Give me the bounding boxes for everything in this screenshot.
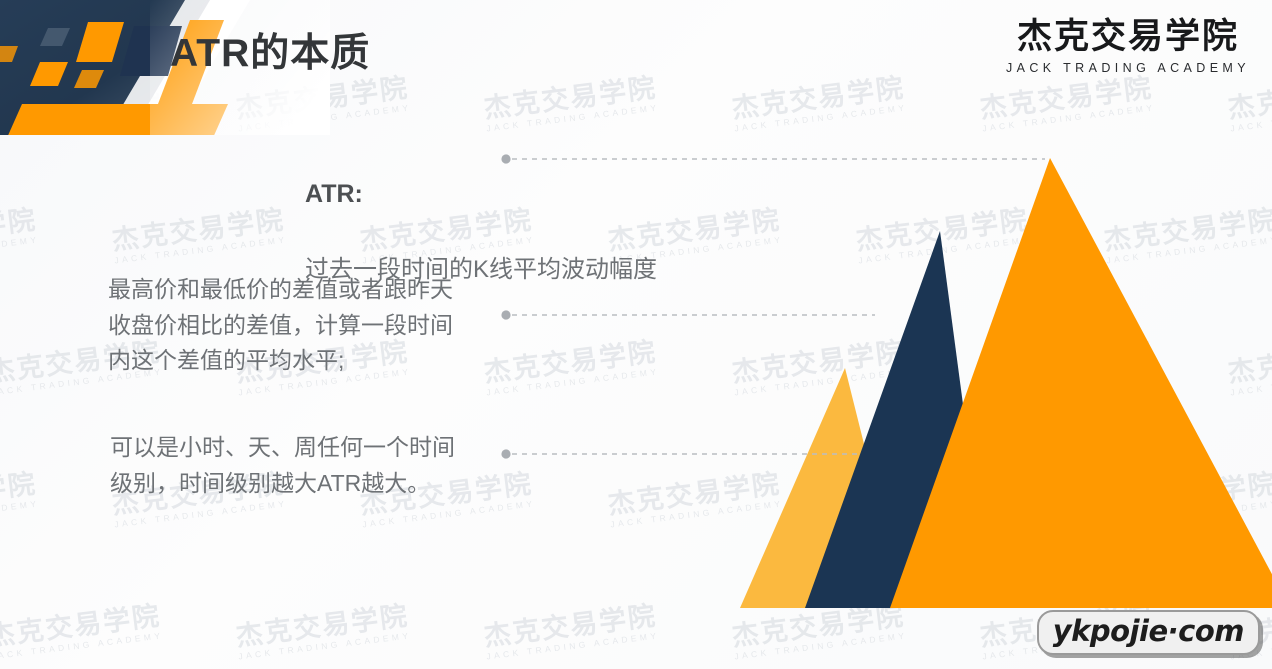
watermark-tile: 杰克交易学院JACK TRADING ACADEMY: [730, 74, 908, 134]
content-block-3: 可以是小时、天、周任何一个时间 级别，时间级别越大ATR越大。: [110, 430, 455, 501]
watermark-tile-en: JACK TRADING ACADEMY: [1106, 0, 1272, 2]
watermark-tile-en: JACK TRADING ACADEMY: [0, 236, 40, 266]
watermark-tile-cn: 杰克交易学院: [234, 602, 410, 651]
watermark-tile: 杰克交易学院JACK TRADING ACADEMY: [854, 0, 1032, 2]
watermark-tile: 杰克交易学院JACK TRADING ACADEMY: [234, 74, 412, 134]
watermark-tile: 杰克交易学院JACK TRADING ACADEMY: [0, 602, 164, 662]
watermark-tile-cn: 杰克交易学院: [110, 206, 286, 255]
watermark-tile-en: JACK TRADING ACADEMY: [362, 0, 536, 2]
watermark-tile-en: JACK TRADING ACADEMY: [238, 104, 412, 134]
watermark-tile: 杰克交易学院JACK TRADING ACADEMY: [110, 0, 288, 2]
watermark-tile-en: JACK TRADING ACADEMY: [0, 0, 40, 2]
brand-logo-cn: 杰克交易学院: [1006, 18, 1250, 57]
watermark-tile: 杰克交易学院JACK TRADING ACADEMY: [482, 602, 660, 662]
watermark-tile-en: JACK TRADING ACADEMY: [362, 500, 536, 530]
page-title: ATR的本质: [170, 22, 370, 78]
watermark-tile-cn: 杰克交易学院: [482, 338, 658, 387]
watermark-tile: 杰克交易学院JACK TRADING ACADEMY: [110, 206, 288, 266]
watermark-tile-cn: 杰克交易学院: [978, 74, 1154, 123]
connector-dot-3: [501, 449, 510, 458]
watermark-tile: 杰克交易学院JACK TRADING ACADEMY: [0, 0, 40, 2]
watermark-tile-en: JACK TRADING ACADEMY: [486, 632, 660, 662]
watermark-tile: 杰克交易学院JACK TRADING ACADEMY: [482, 338, 660, 398]
site-watermark-badge: ykpojie·com: [1037, 610, 1260, 655]
slide-canvas: 杰克交易学院JACK TRADING ACADEMY杰克交易学院JACK TRA…: [0, 0, 1272, 669]
watermark-tile: 杰克交易学院JACK TRADING ACADEMY: [234, 602, 412, 662]
watermark-tile-en: JACK TRADING ACADEMY: [114, 500, 288, 530]
watermark-tile: 杰克交易学院JACK TRADING ACADEMY: [606, 0, 784, 2]
watermark-tile-cn: 杰克交易学院: [482, 74, 658, 123]
watermark-tile-en: JACK TRADING ACADEMY: [486, 368, 660, 398]
watermark-tile: 杰克交易学院JACK TRADING ACADEMY: [1226, 74, 1272, 134]
watermark-tile: 杰克交易学院JACK TRADING ACADEMY: [0, 470, 40, 530]
watermark-tile-cn: 杰克交易学院: [0, 602, 163, 651]
watermark-tile-en: JACK TRADING ACADEMY: [0, 104, 164, 134]
watermark-tile-en: JACK TRADING ACADEMY: [610, 0, 784, 2]
watermark-tile: 杰克交易学院JACK TRADING ACADEMY: [358, 0, 536, 2]
watermark-tile: 杰克交易学院JACK TRADING ACADEMY: [0, 74, 164, 134]
content-block-2: 最高价和最低价的差值或者跟昨天 收盘价相比的差值，计算一段时间 内这个差值的平均…: [108, 272, 453, 379]
watermark-tile: 杰克交易学院JACK TRADING ACADEMY: [1102, 0, 1272, 2]
watermark-tile-en: JACK TRADING ACADEMY: [114, 0, 288, 2]
watermark-tile: 杰克交易学院JACK TRADING ACADEMY: [978, 74, 1156, 134]
watermark-tile-en: JACK TRADING ACADEMY: [734, 632, 908, 662]
watermark-tile-cn: 杰克交易学院: [0, 206, 39, 255]
brand-logo: 杰克交易学院 JACK TRADING ACADEMY: [1006, 18, 1250, 75]
watermark-tile-en: JACK TRADING ACADEMY: [114, 236, 288, 266]
watermark-tile-cn: 杰克交易学院: [482, 602, 658, 651]
watermark-tile-en: JACK TRADING ACADEMY: [858, 0, 1032, 2]
watermark-tile-cn: 杰克交易学院: [0, 470, 39, 519]
watermark-tile-cn: 杰克交易学院: [0, 74, 163, 123]
content-block-1-lead: ATR:: [305, 175, 657, 214]
watermark-tile-en: JACK TRADING ACADEMY: [0, 500, 40, 530]
watermark-tile-en: JACK TRADING ACADEMY: [238, 632, 412, 662]
watermark-tile: 杰克交易学院JACK TRADING ACADEMY: [482, 74, 660, 134]
watermark-tile-cn: 杰克交易学院: [1226, 74, 1272, 123]
watermark-tile-cn: 杰克交易学院: [234, 74, 410, 123]
mountain-chart: [690, 130, 1272, 620]
watermark-tile: 杰克交易学院JACK TRADING ACADEMY: [0, 206, 40, 266]
brand-logo-en: JACK TRADING ACADEMY: [1006, 61, 1250, 75]
watermark-tile-cn: 杰克交易学院: [730, 74, 906, 123]
watermark-tile-en: JACK TRADING ACADEMY: [486, 104, 660, 134]
watermark-tile-en: JACK TRADING ACADEMY: [0, 632, 164, 662]
